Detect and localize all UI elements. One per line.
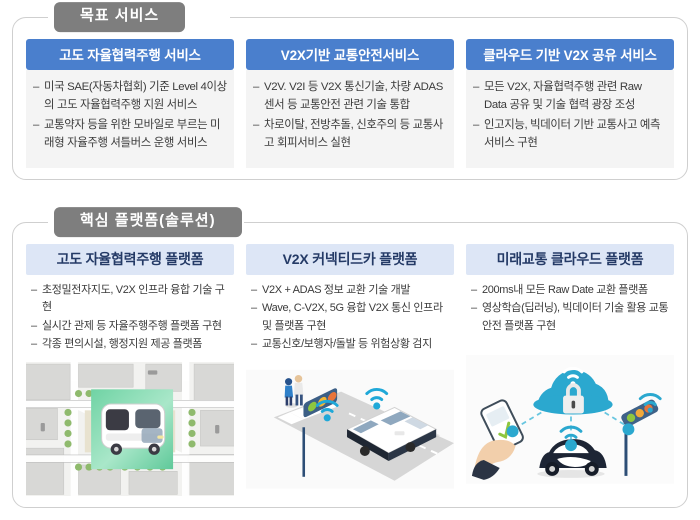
bullet-item: Wave, C-V2X, 5G 융합 V2X 통신 인프라 및 플랫폼 구현 [251,300,449,335]
bullet-item: 교통약자 등을 위한 모바일로 부르는 미래형 자율주행 셔틀버스 운행 서비스 [33,116,227,153]
bullet-item: V2X + ADAS 정보 교환 기술 개발 [251,282,449,299]
node-dot-traffic-light [622,424,634,436]
bullet-item: 모든 V2X, 자율협력주행 관련 Raw Data 공유 및 기술 협력 광장… [473,78,667,115]
platform-card-title: 미래교통 클라우드 플랫폼 [466,244,674,275]
bullet-list: V2X + ADAS 정보 교환 기술 개발 Wave, C-V2X, 5G 융… [251,282,449,354]
section-tab-target-services[interactable]: 목표 서비스 [54,2,185,32]
bullet-list: 초정밀전자지도, V2X 인프라 융합 기술 구현 실시간 관제 등 자율주행주… [31,282,229,354]
service-card-body: 미국 SAE(자동차협회) 기준 Level 4이상의 고도 자율협력주행 지원… [26,70,234,168]
bullet-item: 초정밀전자지도, V2X 인프라 융합 기술 구현 [31,282,229,317]
platform-card-body: V2X + ADAS 정보 교환 기술 개발 Wave, C-V2X, 5G 융… [246,275,454,357]
bullet-item: 인고지능, 빅데이터 기반 교통사고 예측 서비스 구현 [473,116,667,153]
node-dot-phone [507,426,519,438]
service-card-body: V2V. V2I 등 V2X 통신기술, 차량 ADAS 센서 등 교통안전 관… [246,70,454,168]
section-core-platform: 핵심 플랫폼(솔루션) 고도 자율협력주행 플랫폼 초정밀전자지도, V2X 인… [12,222,688,508]
service-card-v2x-traffic-safety: V2X기반 교통안전서비스 V2V. V2I 등 V2X 통신기술, 차량 AD… [246,39,454,168]
platform-card-body: 200ms내 모든 Raw Date 교환 플랫폼 영상학습(딥러닝), 빅데이… [466,275,674,338]
platform-card-future-cloud: 미래교통 클라우드 플랫폼 200ms내 모든 Raw Date 교환 플랫폼 … [466,244,674,496]
bullet-item: 교통신호/보행자/돌발 등 위험상황 검지 [251,336,449,353]
service-card-cloud-v2x-sharing: 클라우드 기반 V2X 공유 서비스 모든 V2X, 자율협력주행 관련 Raw… [466,39,674,168]
v2x-signal-dot-2 [373,402,380,409]
bullet-item: V2V. V2I 등 V2X 통신기술, 차량 ADAS 센서 등 교통안전 관… [253,78,447,115]
platform-card-v2x-connected-car: V2X 커넥티드카 플랫폼 V2X + ADAS 정보 교환 기술 개발 Wav… [246,244,454,496]
bullet-item: 각종 편의시설, 행정지원 제공 플랫폼 [31,336,229,353]
service-card-title: V2X기반 교통안전서비스 [246,39,454,70]
bullet-item: 차로이탈, 전방추돌, 신호주의 등 교통사고 회피서비스 실현 [253,116,447,153]
bullet-list: V2V. V2I 등 V2X 통신기술, 차량 ADAS 센서 등 교통안전 관… [253,78,447,153]
service-card-title: 클라우드 기반 V2X 공유 서비스 [466,39,674,70]
section-target-services: 목표 서비스 고도 자율협력주행 서비스 미국 SAE(자동차협회) 기준 Le… [12,17,688,180]
aerial-map-shuttle-illustration [26,362,234,497]
cloud-connected-devices-illustration [466,343,674,496]
section-tab-core-platform[interactable]: 핵심 플랫폼(솔루션) [54,207,242,237]
bullet-list: 200ms내 모든 Raw Date 교환 플랫폼 영상학습(딥러닝), 빅데이… [471,282,669,335]
bullet-list: 미국 SAE(자동차협회) 기준 Level 4이상의 고도 자율협력주행 지원… [33,78,227,153]
platform-card-title: 고도 자율협력주행 플랫폼 [26,244,234,275]
bullet-item: 미국 SAE(자동차협회) 기준 Level 4이상의 고도 자율협력주행 지원… [33,78,227,115]
target-services-card-row: 고도 자율협력주행 서비스 미국 SAE(자동차협회) 기준 Level 4이상… [12,17,688,180]
crosswalk-bus-v2x-illustration [246,362,454,497]
platform-card-autonomous-driving: 고도 자율협력주행 플랫폼 초정밀전자지도, V2X 인프라 융합 기술 구현 … [26,244,234,496]
bullet-item: 실시간 관제 등 자율주행주행 플랫폼 구현 [31,318,229,335]
service-card-body: 모든 V2X, 자율협력주행 관련 Raw Data 공유 및 기술 협력 광장… [466,70,674,168]
bullet-list: 모든 V2X, 자율협력주행 관련 Raw Data 공유 및 기술 협력 광장… [473,78,667,153]
service-card-title: 고도 자율협력주행 서비스 [26,39,234,70]
platform-card-body: 초정밀전자지도, V2X 인프라 융합 기술 구현 실시간 관제 등 자율주행주… [26,275,234,357]
service-card-autonomous-driving: 고도 자율협력주행 서비스 미국 SAE(자동차협회) 기준 Level 4이상… [26,39,234,168]
core-platform-card-row: 고도 자율협력주행 플랫폼 초정밀전자지도, V2X 인프라 융합 기술 구현 … [12,222,688,508]
platform-card-title: V2X 커넥티드카 플랫폼 [246,244,454,275]
bullet-item: 200ms내 모든 Raw Date 교환 플랫폼 [471,282,669,299]
v2x-signal-dot [324,414,331,421]
bullet-item: 영상학습(딥러닝), 빅데이터 기술 활용 교통안전 플랫폼 구현 [471,300,669,335]
